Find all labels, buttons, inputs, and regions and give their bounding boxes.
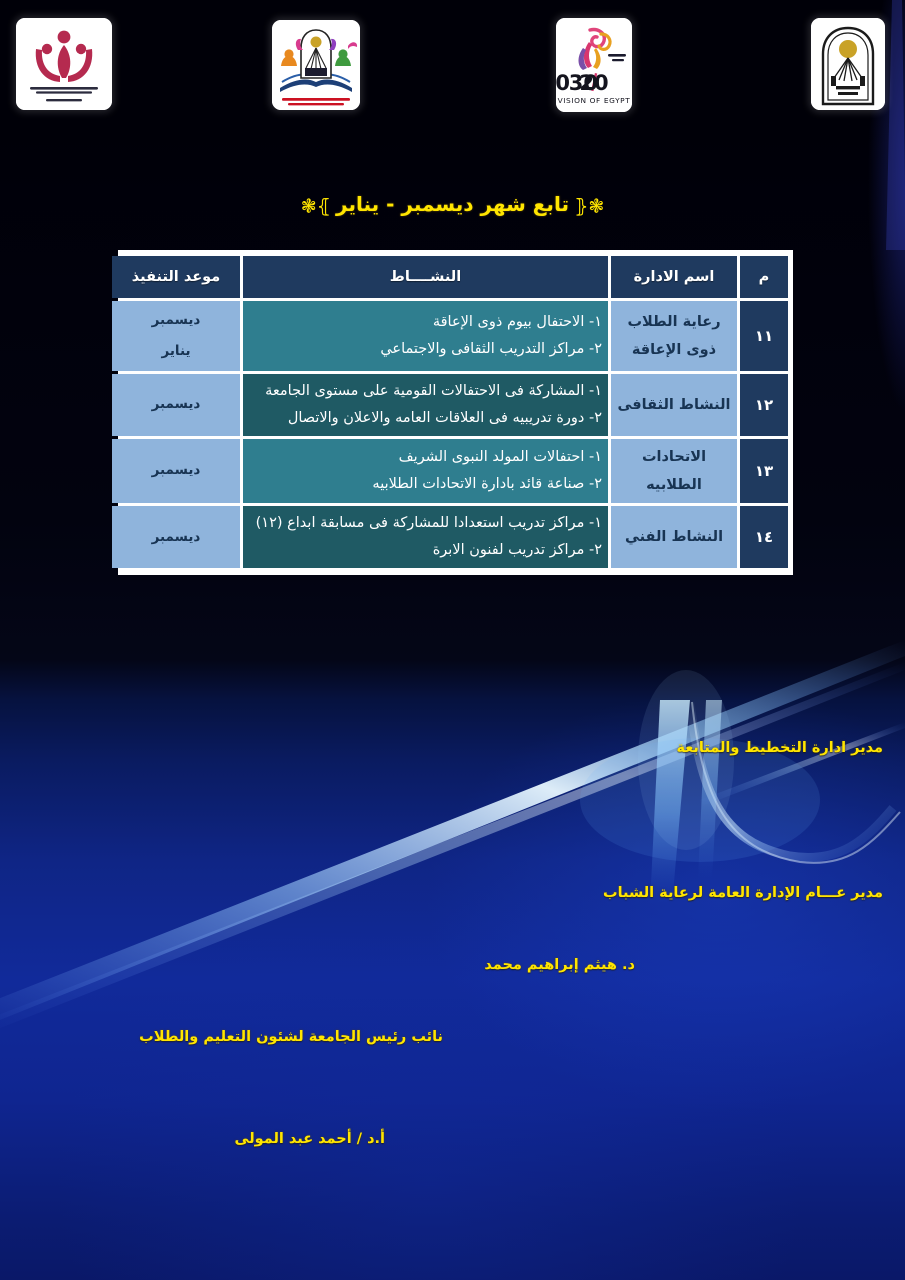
- department-name-cell: النشاط الثقافى: [611, 374, 737, 436]
- execution-date-line: ديسمبر: [118, 389, 234, 420]
- table-row: ١٣الاتحاداتالطلابيه١- احتفالات المولد ال…: [112, 439, 788, 504]
- row-number-cell: ١١: [740, 301, 788, 371]
- activity-line: ٢- دورة تدريبيه فى العلاقات العامه والاع…: [249, 405, 602, 432]
- schedule-table-frame: م اسم الادارة النشــــاط موعد التنفيذ ١١…: [118, 250, 793, 575]
- vice-president-education-students-title: نائب رئيس الجامعة لشئون التعليم والطلاب: [139, 1029, 443, 1045]
- department-name-line: ذوى الإعاقة: [617, 336, 731, 364]
- logo-row: 20 x 20 30 VISION OF EGYPT: [0, 10, 905, 112]
- activity-line: ٢- مراكز التدريب الثقافى والاجتماعي: [249, 336, 602, 363]
- vice-president-education-students-name: أ.د / أحمد عبد المولى: [235, 1131, 385, 1147]
- execution-date-cell: ديسمبريناير: [112, 301, 240, 371]
- column-header-date: موعد التنفيذ: [112, 256, 240, 298]
- execution-date-line: ديسمبر: [118, 455, 234, 486]
- activity-line: ١- المشاركة فى الاحتفالات القومية على مس…: [249, 378, 602, 405]
- svg-text:30: 30: [569, 71, 598, 95]
- page-title: تابع شهر ديسمبر - يناير: [336, 192, 569, 216]
- department-name-cell: النشاط الفني: [611, 506, 737, 568]
- department-name-line: الاتحادات: [617, 443, 731, 471]
- title-ornament-start: ❃⦃: [574, 196, 604, 218]
- schedule-table: م اسم الادارة النشــــاط موعد التنفيذ ١١…: [109, 253, 791, 571]
- execution-date-cell: ديسمبر: [112, 374, 240, 436]
- assiut-university-logo: [811, 18, 885, 110]
- row-number-cell: ١٣: [740, 439, 788, 504]
- row-number-cell: ١٢: [740, 374, 788, 436]
- column-header-number: م: [740, 256, 788, 298]
- youth-care-general-director-title: مدير عـــام الإدارة العامة لرعاية الشباب: [603, 885, 883, 901]
- activity-line: ١- مراكز تدريب استعدادا للمشاركة فى مساب…: [249, 510, 602, 537]
- youth-care-general-director-name: د. هيثم إبراهيم محمد: [484, 957, 635, 973]
- table-header-row: م اسم الادارة النشــــاط موعد التنفيذ: [112, 256, 788, 298]
- activity-cell: ١- المشاركة فى الاحتفالات القومية على مس…: [243, 374, 608, 436]
- activity-cell: ١- مراكز تدريب استعدادا للمشاركة فى مساب…: [243, 506, 608, 568]
- general-administration-youth-care-assiut-logo: [16, 18, 112, 110]
- table-row: ١١رعاية الطلابذوى الإعاقة١- الاحتفال بيو…: [112, 301, 788, 371]
- row-number-cell: ١٤: [740, 506, 788, 568]
- planning-follow-up-director-title: مدير ادارة التخطيط والمتابعة: [676, 740, 883, 756]
- higher-education-ministry-logo: [272, 20, 360, 110]
- department-name-line: النشاط الثقافى: [617, 391, 731, 419]
- activity-cell: ١- احتفالات المولد النبوى الشريف٢- صناعة…: [243, 439, 608, 504]
- vision-of-egypt-2030-logo: 20 x 20 30 VISION OF EGYPT: [556, 18, 632, 112]
- activity-cell: ١- الاحتفال بيوم ذوى الإعاقة٢- مراكز الت…: [243, 301, 608, 371]
- department-name-line: رعاية الطلاب: [617, 308, 731, 336]
- slide-title: ❃⦃ تابع شهر ديسمبر - يناير ⦄❃: [0, 192, 905, 218]
- presentation-slide: 20 x 20 30 VISION OF EGYPT: [0, 0, 905, 1280]
- svg-text:VISION OF EGYPT: VISION OF EGYPT: [558, 96, 631, 105]
- activity-line: ٢- صناعة قائد بادارة الاتحادات الطلابيه: [249, 471, 602, 498]
- execution-date-cell: ديسمبر: [112, 506, 240, 568]
- execution-date-line: ديسمبر: [118, 305, 234, 336]
- activity-line: ١- احتفالات المولد النبوى الشريف: [249, 444, 602, 471]
- department-name-line: الطلابيه: [617, 471, 731, 499]
- table-row: ١٢النشاط الثقافى١- المشاركة فى الاحتفالا…: [112, 374, 788, 436]
- execution-date-cell: ديسمبر: [112, 439, 240, 504]
- title-ornament-end: ⦄❃: [301, 196, 331, 218]
- column-header-activity: النشــــاط: [243, 256, 608, 298]
- table-row: ١٤النشاط الفني١- مراكز تدريب استعدادا لل…: [112, 506, 788, 568]
- department-name-cell: الاتحاداتالطلابيه: [611, 439, 737, 504]
- column-header-department: اسم الادارة: [611, 256, 737, 298]
- activity-line: ٢- مراكز تدريب لفنون الابرة: [249, 537, 602, 564]
- department-name-line: النشاط الفني: [617, 523, 731, 551]
- execution-date-line: يناير: [118, 336, 234, 367]
- execution-date-line: ديسمبر: [118, 522, 234, 553]
- department-name-cell: رعاية الطلابذوى الإعاقة: [611, 301, 737, 371]
- activity-line: ١- الاحتفال بيوم ذوى الإعاقة: [249, 309, 602, 336]
